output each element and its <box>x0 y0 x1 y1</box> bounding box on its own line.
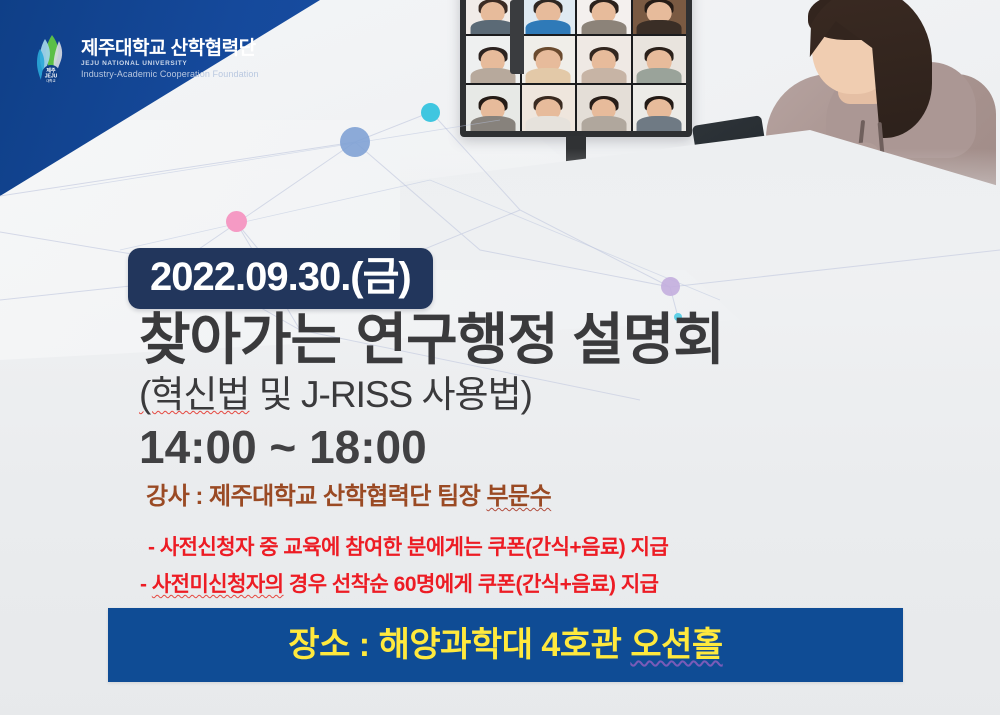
decoration-dot-pink <box>226 211 247 232</box>
participant-tile <box>522 85 576 131</box>
event-time: 14:00 ~ 18:00 <box>139 424 427 470</box>
participant-tile <box>577 36 631 82</box>
logo-korean-name: 제주대학교 산학협력단 <box>81 39 259 58</box>
logo-english-line2: Industry-Academic Cooperation Foundation <box>81 70 259 79</box>
instructor-line: 강사 : 제주대학교 산학협력단 팀장 부문수 <box>146 485 551 509</box>
video-conference-grid <box>466 0 686 131</box>
note-item: - 사전신청자 중 교육에 참여한 분에게는 쿠폰(간식+음료) 지급 <box>148 537 668 558</box>
event-subtitle: (혁신법 및 J-RISS 사용법) <box>139 376 532 413</box>
participant-tile <box>633 36 687 82</box>
participant-tile <box>522 36 576 82</box>
venue-bar: 장소 : 해양과학대 4호관 오션홀 <box>108 608 903 682</box>
participant-tile <box>466 85 520 131</box>
hero-photo <box>400 0 1000 270</box>
logo-english-line1: JEJU NATIONAL UNIVERSITY <box>81 61 259 68</box>
decoration-dot-blue <box>340 127 370 157</box>
svg-text:대학교: 대학교 <box>46 78 55 83</box>
page-title: 찾아가는 연구행정 설명회 <box>139 312 724 368</box>
participant-tile <box>577 0 631 34</box>
participant-tile <box>633 85 687 131</box>
event-date-badge: 2022.09.30.(금) <box>128 248 433 309</box>
monitor <box>460 0 692 137</box>
venue-text: 장소 : 해양과학대 4호관 오션홀 <box>288 628 722 662</box>
participant-tile <box>522 0 576 34</box>
event-poster: 제주 JEJU 대학교 제주대학교 산학협력단 JEJU NATIONAL UN… <box>0 0 1000 715</box>
monitor-side-bezel <box>510 0 524 74</box>
jeju-flame-logo-icon: 제주 JEJU 대학교 <box>30 33 72 85</box>
decoration-dot-purple <box>661 277 680 296</box>
participant-tile <box>633 0 687 34</box>
note-item: - 사전미신청자의 경우 선착순 60명에게 쿠폰(간식+음료) 지급 <box>140 574 658 595</box>
logo-text-block: 제주대학교 산학협력단 JEJU NATIONAL UNIVERSITY Ind… <box>81 39 259 79</box>
decoration-dot-cyan <box>421 103 440 122</box>
organization-logo: 제주 JEJU 대학교 제주대학교 산학협력단 JEJU NATIONAL UN… <box>30 33 259 85</box>
participant-tile <box>577 85 631 131</box>
subtitle-rest: 및 J-RISS 사용법) <box>259 374 532 415</box>
